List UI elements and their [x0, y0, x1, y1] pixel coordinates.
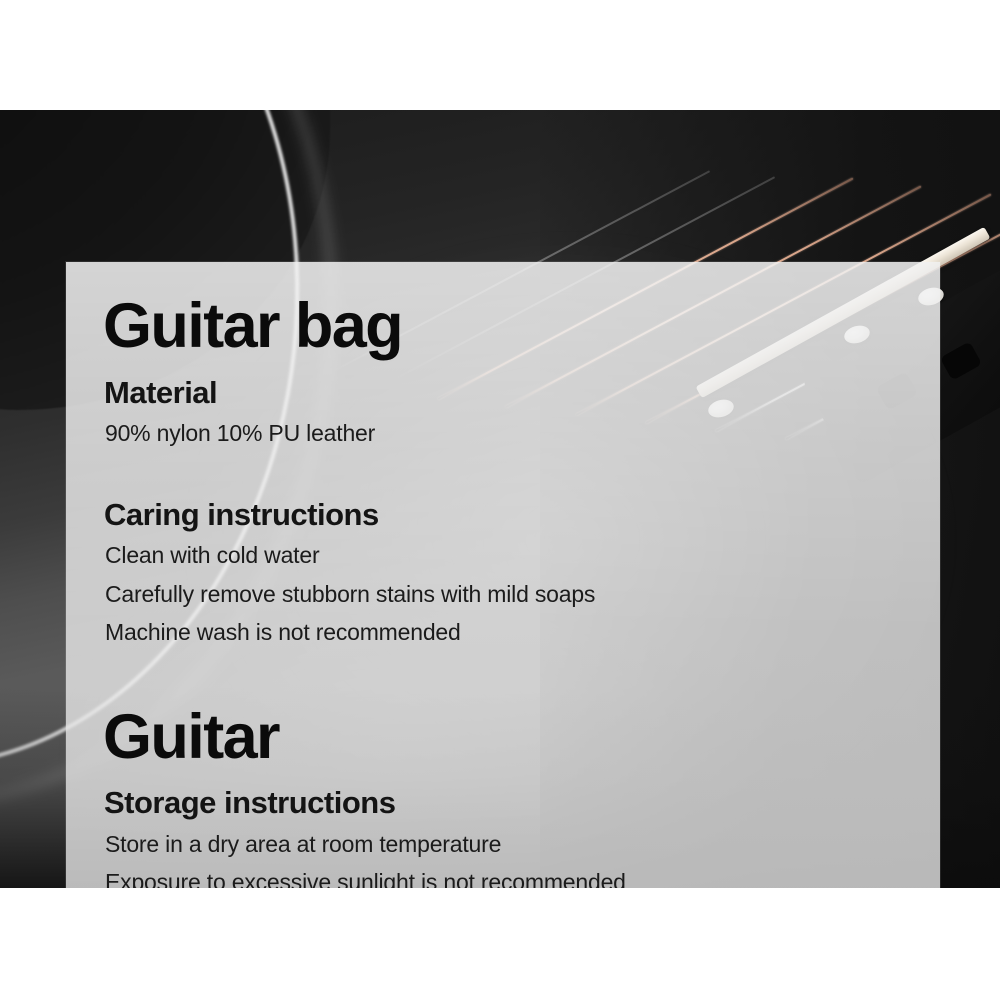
section-title-guitar: Guitar [103, 705, 900, 771]
lines-storage-instructions: Store in a dry area at room temperature … [103, 827, 900, 888]
spacer-section-break [103, 651, 900, 705]
line-caring-2: Carefully remove stubborn stains with mi… [105, 577, 900, 612]
line-material-1: 90% nylon 10% PU leather [105, 416, 900, 451]
line-storage-2: Exposure to excessive sunlight is not re… [105, 865, 900, 888]
lines-material: 90% nylon 10% PU leather [103, 416, 900, 451]
line-storage-1: Store in a dry area at room temperature [105, 827, 900, 862]
section-guitar: Guitar Storage instructions Store in a d… [103, 705, 900, 888]
info-panel: Guitar bag Material 90% nylon 10% PU lea… [66, 262, 940, 888]
info-panel-content: Guitar bag Material 90% nylon 10% PU lea… [66, 262, 940, 888]
section-title-guitar-bag: Guitar bag [103, 294, 900, 360]
line-caring-1: Clean with cold water [105, 538, 900, 573]
line-caring-3: Machine wash is not recommended [105, 615, 900, 650]
subhead-storage-instructions: Storage instructions [104, 786, 900, 821]
spacer-material-caring [103, 452, 900, 482]
group-storage-instructions: Storage instructions Store in a dry area… [103, 786, 900, 888]
section-guitar-bag: Guitar bag Material 90% nylon 10% PU lea… [103, 294, 900, 651]
product-info-card: Guitar bag Material 90% nylon 10% PU lea… [0, 0, 1000, 1000]
group-caring-instructions: Caring instructions Clean with cold wate… [103, 498, 900, 651]
lines-caring-instructions: Clean with cold water Carefully remove s… [103, 538, 900, 650]
subhead-material: Material [104, 376, 900, 411]
group-material: Material 90% nylon 10% PU leather [103, 376, 900, 452]
subhead-caring-instructions: Caring instructions [104, 498, 900, 533]
guitar-photo: Guitar bag Material 90% nylon 10% PU lea… [0, 110, 1000, 888]
